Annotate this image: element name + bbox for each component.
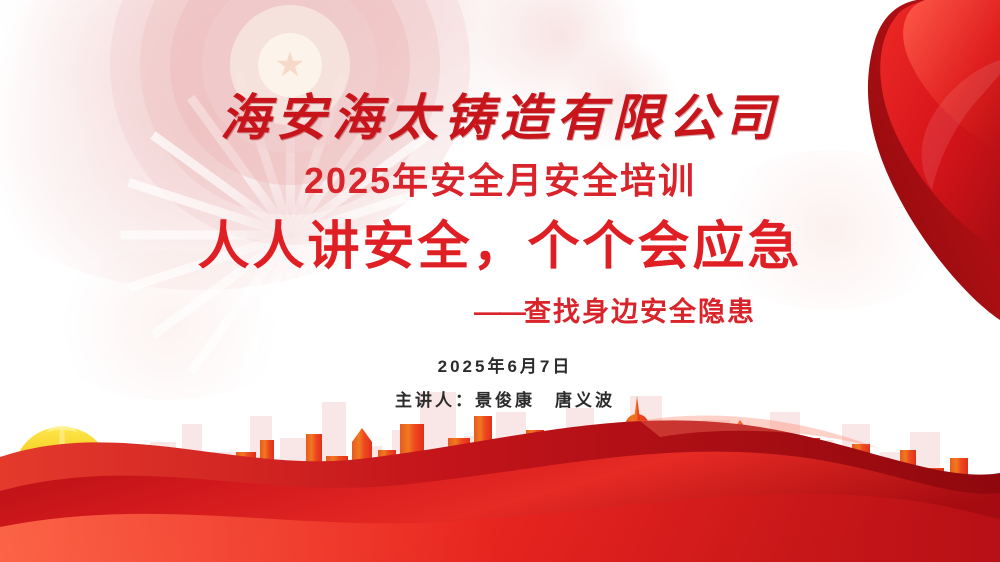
presenter-names: 主讲人：景俊康 唐义波 [0, 386, 1000, 411]
tagline-dash: —— [474, 297, 524, 327]
slide-text-layer: 海安海太铸造有限公司 2025年安全月安全培训 人人讲安全，个个会应急 ——查找… [0, 0, 1000, 562]
safety-slogan: 人人讲安全，个个会应急 [0, 204, 1000, 279]
presentation-slide: ★ [0, 0, 1000, 562]
tagline-text: 查找身边安全隐患 [524, 297, 756, 327]
training-subtitle: 2025年安全月安全培训 [0, 152, 1000, 204]
presentation-date: 2025年6月7日 [0, 352, 1000, 377]
tagline: ——查找身边安全隐患 [0, 290, 1000, 329]
company-title: 海安海太铸造有限公司 [0, 78, 1000, 150]
